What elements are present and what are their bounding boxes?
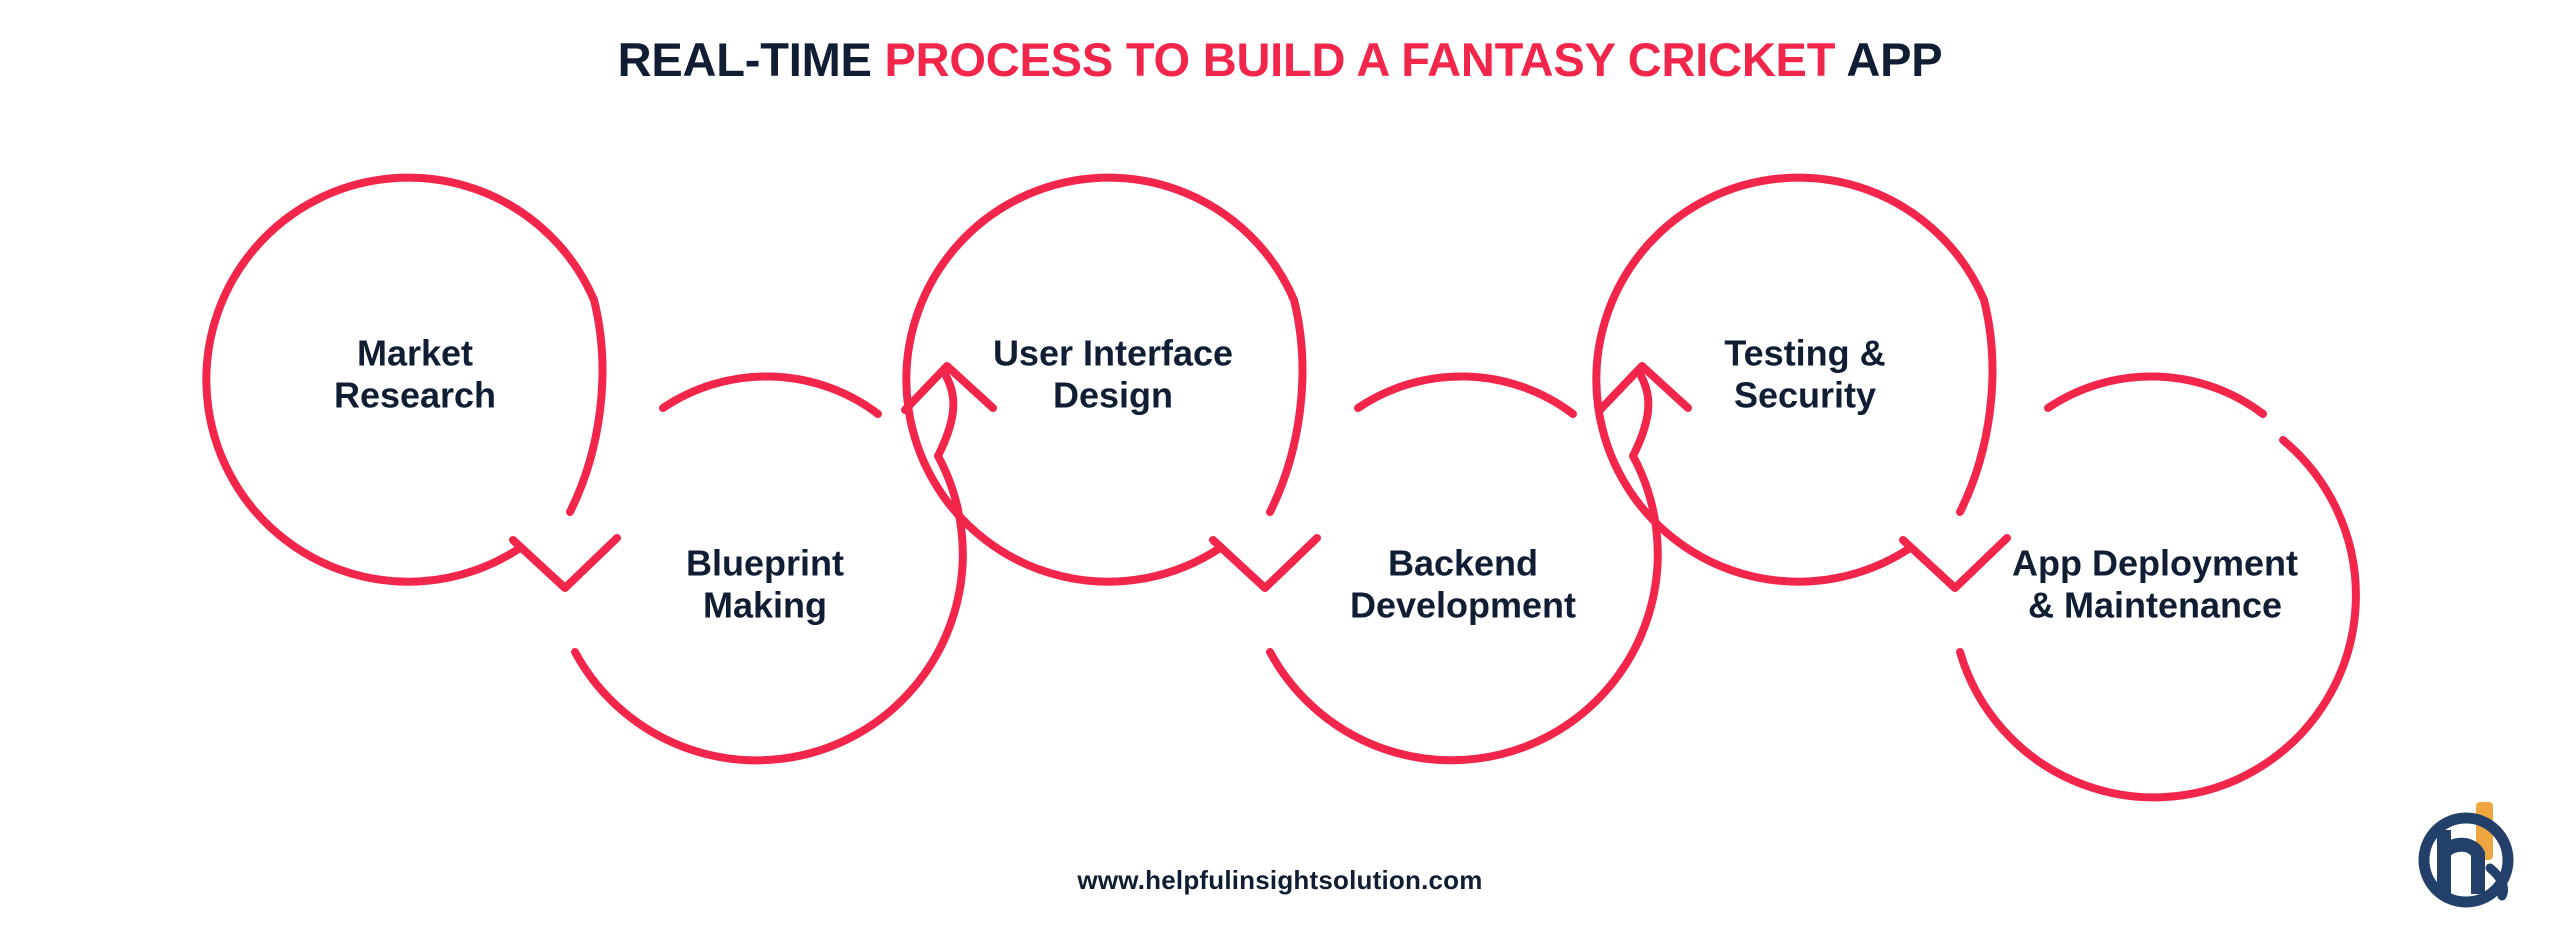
process-cycle-diagram bbox=[0, 0, 2560, 943]
infographic-canvas: REAL-TIME PROCESS TO BUILD A FANTASY CRI… bbox=[0, 0, 2560, 943]
step-circle-2 bbox=[575, 366, 993, 760]
connector-arc-4 bbox=[1358, 376, 1573, 414]
arrowhead-5-to-6 bbox=[1903, 538, 2007, 588]
step-circle-6 bbox=[1960, 376, 2356, 797]
connector-arc-6 bbox=[2048, 376, 2263, 414]
step-circle-4 bbox=[1270, 366, 1688, 760]
connector-arc-2 bbox=[663, 376, 878, 414]
step-circle-1 bbox=[206, 178, 617, 588]
arrowhead-3-to-4 bbox=[1213, 538, 1317, 588]
logo-ring bbox=[2424, 818, 2508, 902]
helpful-insight-solution-logo[interactable] bbox=[2406, 790, 2534, 918]
arrowhead-1-to-2 bbox=[513, 538, 617, 588]
website-url[interactable]: www.helpfulinsightsolution.com bbox=[0, 865, 2560, 896]
